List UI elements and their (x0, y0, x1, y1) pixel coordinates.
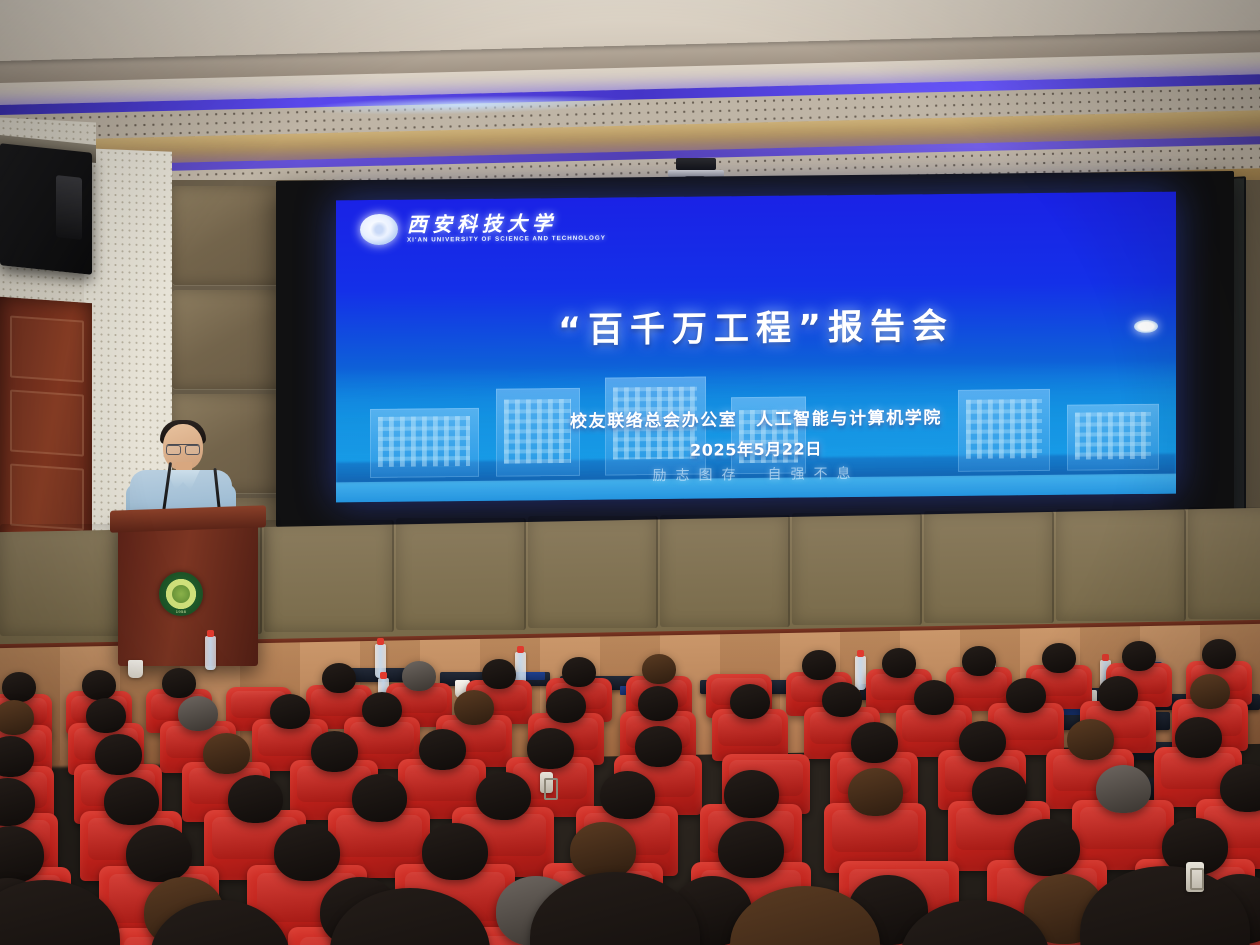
audience-head (638, 686, 678, 721)
audience-head (635, 726, 682, 767)
audience-head (82, 670, 116, 700)
audience-head (724, 770, 779, 818)
audience-head (1014, 819, 1080, 876)
audience-head (322, 663, 356, 693)
audience-head (802, 650, 836, 680)
audience-head (1067, 719, 1114, 760)
audience-head (1042, 643, 1076, 673)
audience-head (562, 657, 596, 687)
audience-head (962, 646, 996, 676)
audience-head (352, 774, 407, 822)
audience-head (203, 733, 250, 774)
audience-head (104, 777, 159, 825)
stage-front-panel (0, 524, 130, 636)
audience-head (730, 684, 770, 719)
audience-head (600, 771, 655, 819)
projection-screen[interactable]: 西安科技大学 XI'AN UNIVERSITY OF SCIENCE AND T… (336, 192, 1176, 503)
audience-head (0, 700, 34, 735)
audience-head (402, 661, 436, 691)
stage-front-panel (660, 515, 790, 627)
audience-head (959, 721, 1006, 762)
audience-head (482, 659, 516, 689)
audience-head (311, 731, 358, 772)
stage-front-panel (396, 518, 526, 630)
water-bottle[interactable] (855, 656, 866, 690)
green-university-emblem-icon: 1958 (159, 572, 203, 616)
audience-head (95, 734, 142, 775)
stage-front-panel (1056, 509, 1186, 621)
university-seal-icon (360, 214, 398, 245)
wall-acoustic-panel (172, 186, 285, 285)
audience-head (419, 729, 466, 770)
audience-head (1096, 765, 1151, 813)
eyeglasses-icon (166, 444, 200, 453)
stage-front-panel (264, 520, 394, 632)
slide-logo: 西安科技大学 XI'AN UNIVERSITY OF SCIENCE AND T… (360, 212, 606, 246)
audience-head (1006, 678, 1046, 713)
audience-head (848, 768, 903, 816)
audience-head (642, 654, 676, 684)
audience-head (362, 692, 402, 727)
stage-front-panel (924, 511, 1054, 623)
audience-head (882, 648, 916, 678)
stage-front-panel (1188, 507, 1260, 619)
slide-title: “百千万工程”报告会 (336, 296, 1176, 356)
audience-head (718, 821, 784, 878)
audience-head (178, 696, 218, 731)
audience-head (972, 767, 1027, 815)
university-name-en: XI'AN UNIVERSITY OF SCIENCE AND TECHNOLO… (407, 235, 606, 243)
hair-clip (1186, 862, 1204, 892)
audience-head (162, 668, 196, 698)
hair-clip-secondary (540, 772, 553, 793)
audience-head (851, 722, 898, 763)
audience-head (570, 822, 636, 879)
stage-front-panel (528, 516, 658, 628)
audience-head (1190, 674, 1230, 709)
paper-cup[interactable] (128, 660, 143, 678)
auditorium-photo: 西安科技大学 XI'AN UNIVERSITY OF SCIENCE AND T… (0, 0, 1260, 945)
audience-head (422, 823, 488, 880)
audience-head (1175, 717, 1222, 758)
audience-head (454, 690, 494, 725)
audience-head (1122, 641, 1156, 671)
audience-head (126, 825, 192, 882)
university-name-cn: 西安科技大学 (407, 212, 606, 234)
audience-head (822, 682, 862, 717)
stage-front-panel (792, 513, 922, 625)
audience-head (86, 698, 126, 733)
water-bottle[interactable] (205, 636, 216, 670)
audience-head (1098, 676, 1138, 711)
audience-head (1202, 639, 1236, 669)
audience-head (527, 728, 574, 769)
audience-head (476, 772, 531, 820)
loudspeaker-icon (0, 143, 92, 275)
audience-head (546, 688, 586, 723)
audience-head (228, 775, 283, 823)
camera-mount (676, 158, 716, 170)
audience-head (914, 680, 954, 715)
emblem-year: 1958 (159, 609, 203, 614)
audience-head (270, 694, 310, 729)
audience-head (2, 672, 36, 702)
audience-head (274, 824, 340, 881)
wall-acoustic-panel (172, 290, 285, 389)
